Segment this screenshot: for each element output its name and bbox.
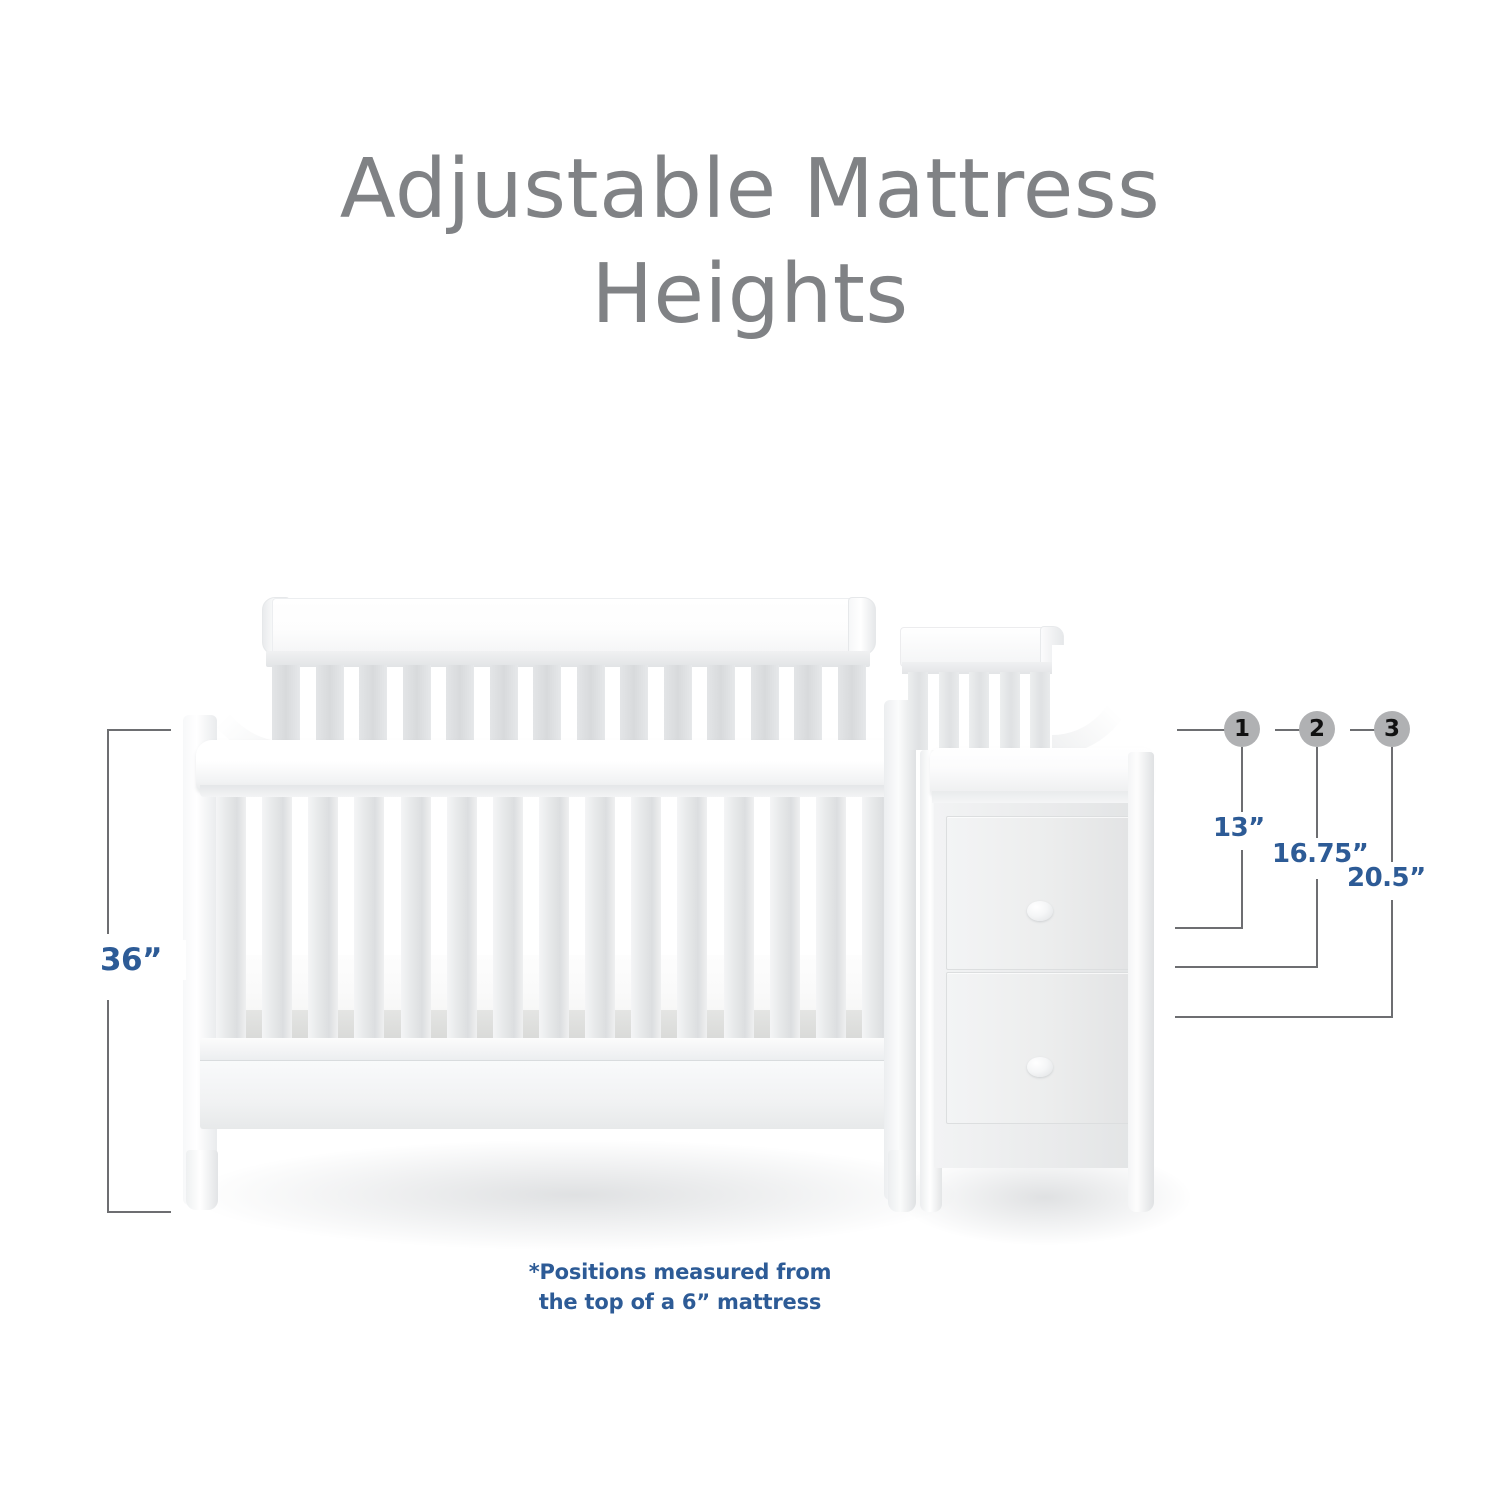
drawer-knob-bottom-icon[interactable] — [1027, 1057, 1053, 1077]
position-marker-1-number: 1 — [1234, 718, 1250, 741]
position-1-line-lower — [1241, 850, 1243, 929]
callout-3-leader — [1350, 729, 1377, 731]
footnote-line-1: *Positions measured from — [529, 1260, 832, 1284]
changer-drawer-top[interactable] — [946, 816, 1136, 970]
crib-headboard-panel — [272, 598, 864, 656]
crib-front-top-rail — [196, 740, 908, 791]
position-3-elbow — [1175, 1016, 1393, 1018]
height-dim-tick-bottom — [107, 1211, 171, 1213]
footnote: *Positions measured from the top of a 6”… — [430, 1258, 930, 1318]
crib-front-slat — [447, 795, 477, 1040]
changer-back-slat — [969, 672, 989, 750]
crib-front-slat — [493, 795, 523, 1040]
crib-front-slat — [354, 795, 384, 1040]
height-dim-line-upper — [107, 729, 109, 934]
crib-front-slat — [677, 795, 707, 1040]
height-dim-line-lower — [107, 1000, 109, 1212]
crib-floor-shadow — [195, 1140, 955, 1250]
position-marker-1[interactable]: 1 — [1224, 711, 1260, 747]
crib-base-panel — [200, 1060, 908, 1129]
crib-foot-right — [888, 1150, 916, 1212]
position-2-line-lower — [1316, 879, 1318, 968]
position-marker-2[interactable]: 2 — [1299, 711, 1335, 747]
drawer-knob-top-icon[interactable] — [1027, 901, 1053, 921]
crib-front-slat — [216, 795, 246, 1040]
position-marker-3[interactable]: 3 — [1374, 711, 1410, 747]
crib-post-right — [884, 700, 916, 1200]
position-3-label: 20.5” — [1344, 862, 1429, 894]
crib-front-slat — [585, 795, 615, 1040]
position-marker-2-number: 2 — [1309, 718, 1325, 741]
crib-front-slat — [724, 795, 754, 1040]
changer-back-slat — [1030, 672, 1050, 750]
crib-front-top-rail-lip — [200, 785, 904, 797]
changer-back-slat-group — [908, 672, 1050, 750]
position-2-elbow — [1175, 966, 1318, 968]
crib-front-slat — [308, 795, 338, 1040]
crib-foot-left — [186, 1150, 218, 1210]
changer-back-slat — [908, 672, 928, 750]
changer-back-slat — [1000, 672, 1020, 750]
crib-front-slat — [770, 795, 800, 1040]
crib-headboard-cap-right — [848, 597, 876, 655]
footnote-line-2: the top of a 6” mattress — [430, 1288, 930, 1318]
changer-leg-right — [1128, 752, 1154, 1212]
changer-headboard-panel — [900, 627, 1054, 667]
height-dim-tick-top — [107, 729, 171, 731]
crib-base-rail — [200, 1038, 908, 1060]
changer-table-top-lip — [932, 791, 1150, 803]
crib-front-slat — [401, 795, 431, 1040]
crib-front-slat — [631, 795, 661, 1040]
position-1-label: 13” — [1210, 812, 1268, 844]
crib-front-slat-group — [216, 795, 892, 1040]
crib-front-slat — [262, 795, 292, 1040]
crib-front-slat — [539, 795, 569, 1040]
changer-drawer-bottom[interactable] — [946, 972, 1136, 1124]
callout-1-leader — [1177, 729, 1229, 731]
crib-front-slat — [816, 795, 846, 1040]
changer-back-slat — [939, 672, 959, 750]
overall-height-label: 36” — [76, 940, 186, 980]
position-3-line-lower — [1391, 900, 1393, 1018]
callout-2-leader — [1275, 729, 1302, 731]
position-1-elbow — [1175, 927, 1243, 929]
position-marker-3-number: 3 — [1384, 718, 1400, 741]
changer-table-top — [930, 748, 1152, 794]
